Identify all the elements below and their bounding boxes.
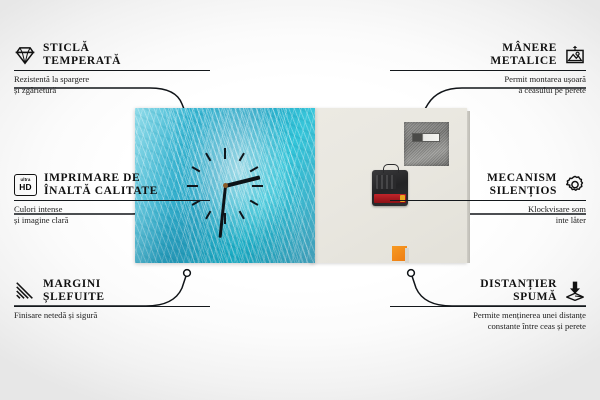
infographic-canvas: STICLĂTEMPERATĂ Rezistentă la spargereși…: [0, 0, 600, 400]
metal-hanger-bracket: [404, 122, 449, 166]
feature-title-line1: MECANISM: [487, 172, 557, 184]
foam-spacer: [392, 246, 407, 261]
feature-sticla-temperata: STICLĂTEMPERATĂ Rezistentă la spargereși…: [14, 42, 210, 95]
feature-title-line1: MÂNERE: [502, 42, 557, 54]
feature-title-line2: ȘLEFUITE: [43, 291, 105, 303]
feature-desc-line2: și imagine clară: [14, 215, 68, 225]
feature-desc-line2: inte låter: [556, 215, 586, 225]
feature-title-line1: STICLĂ: [43, 42, 89, 54]
diagonal-stripes-icon: [14, 280, 36, 302]
feature-desc-line1: Permit montarea ușoară: [504, 74, 586, 84]
picture-hanger-icon: [564, 44, 586, 66]
feature-title-line1: MARGINI: [43, 278, 101, 290]
feature-title-line2: METALICE: [490, 55, 557, 67]
divider: [390, 306, 586, 307]
feature-desc-line2: a ceasului pe perete: [518, 85, 586, 95]
feature-imprimare-hd: ultra HD IMPRIMARE DEÎNALTĂ CALITATE Cul…: [14, 172, 210, 225]
leader-dot-distantier: [408, 270, 415, 277]
ultra-hd-icon-big-label: HD: [19, 183, 32, 191]
gear-icon: [564, 174, 586, 196]
feature-title-line1: IMPRIMARE DE: [44, 172, 140, 184]
feature-desc-line1: Rezistentă la spargere: [14, 74, 89, 84]
feature-title-line2: ÎNALTĂ CALITATE: [44, 185, 158, 197]
divider: [390, 200, 586, 201]
feature-desc-line2: și zgârietură: [14, 85, 56, 95]
feature-mecanism-silentios: MECANISMSILENȚIOS Klockvisare sominte lå…: [390, 172, 586, 225]
clock-center-pin: [223, 183, 228, 188]
divider: [390, 70, 586, 71]
arrow-down-pad-icon: [564, 280, 586, 302]
feature-title-line2: SILENȚIOS: [490, 185, 557, 197]
divider: [14, 200, 210, 201]
feature-desc-line2: constante între ceas și perete: [488, 321, 586, 331]
feature-desc-line1: Finisare netedă și sigură: [14, 310, 97, 320]
diamond-icon: [14, 44, 36, 66]
feature-desc-line1: Klockvisare som: [528, 204, 586, 214]
feature-margini-slefuite: MARGINIȘLEFUITE Finisare netedă și sigur…: [14, 278, 210, 321]
divider: [14, 306, 210, 307]
ultra-hd-icon: ultra HD: [14, 174, 37, 196]
divider: [14, 70, 210, 71]
hanger-slot: [412, 133, 440, 142]
feature-title-line1: DISTANȚIER: [480, 278, 557, 290]
feature-title-line2: SPUMĂ: [513, 291, 557, 303]
feature-manere-metalice: MÂNEREMETALICE Permit montarea ușoarăa c…: [390, 42, 586, 95]
leader-dot-margini: [184, 270, 191, 277]
feature-desc-line1: Culori intense: [14, 204, 62, 214]
feature-distantier-spuma: DISTANȚIERSPUMĂ Permite menținerea unei …: [390, 278, 586, 331]
feature-title-line2: TEMPERATĂ: [43, 55, 121, 67]
feature-desc-line1: Permite menținerea unei distanțe: [473, 310, 586, 320]
